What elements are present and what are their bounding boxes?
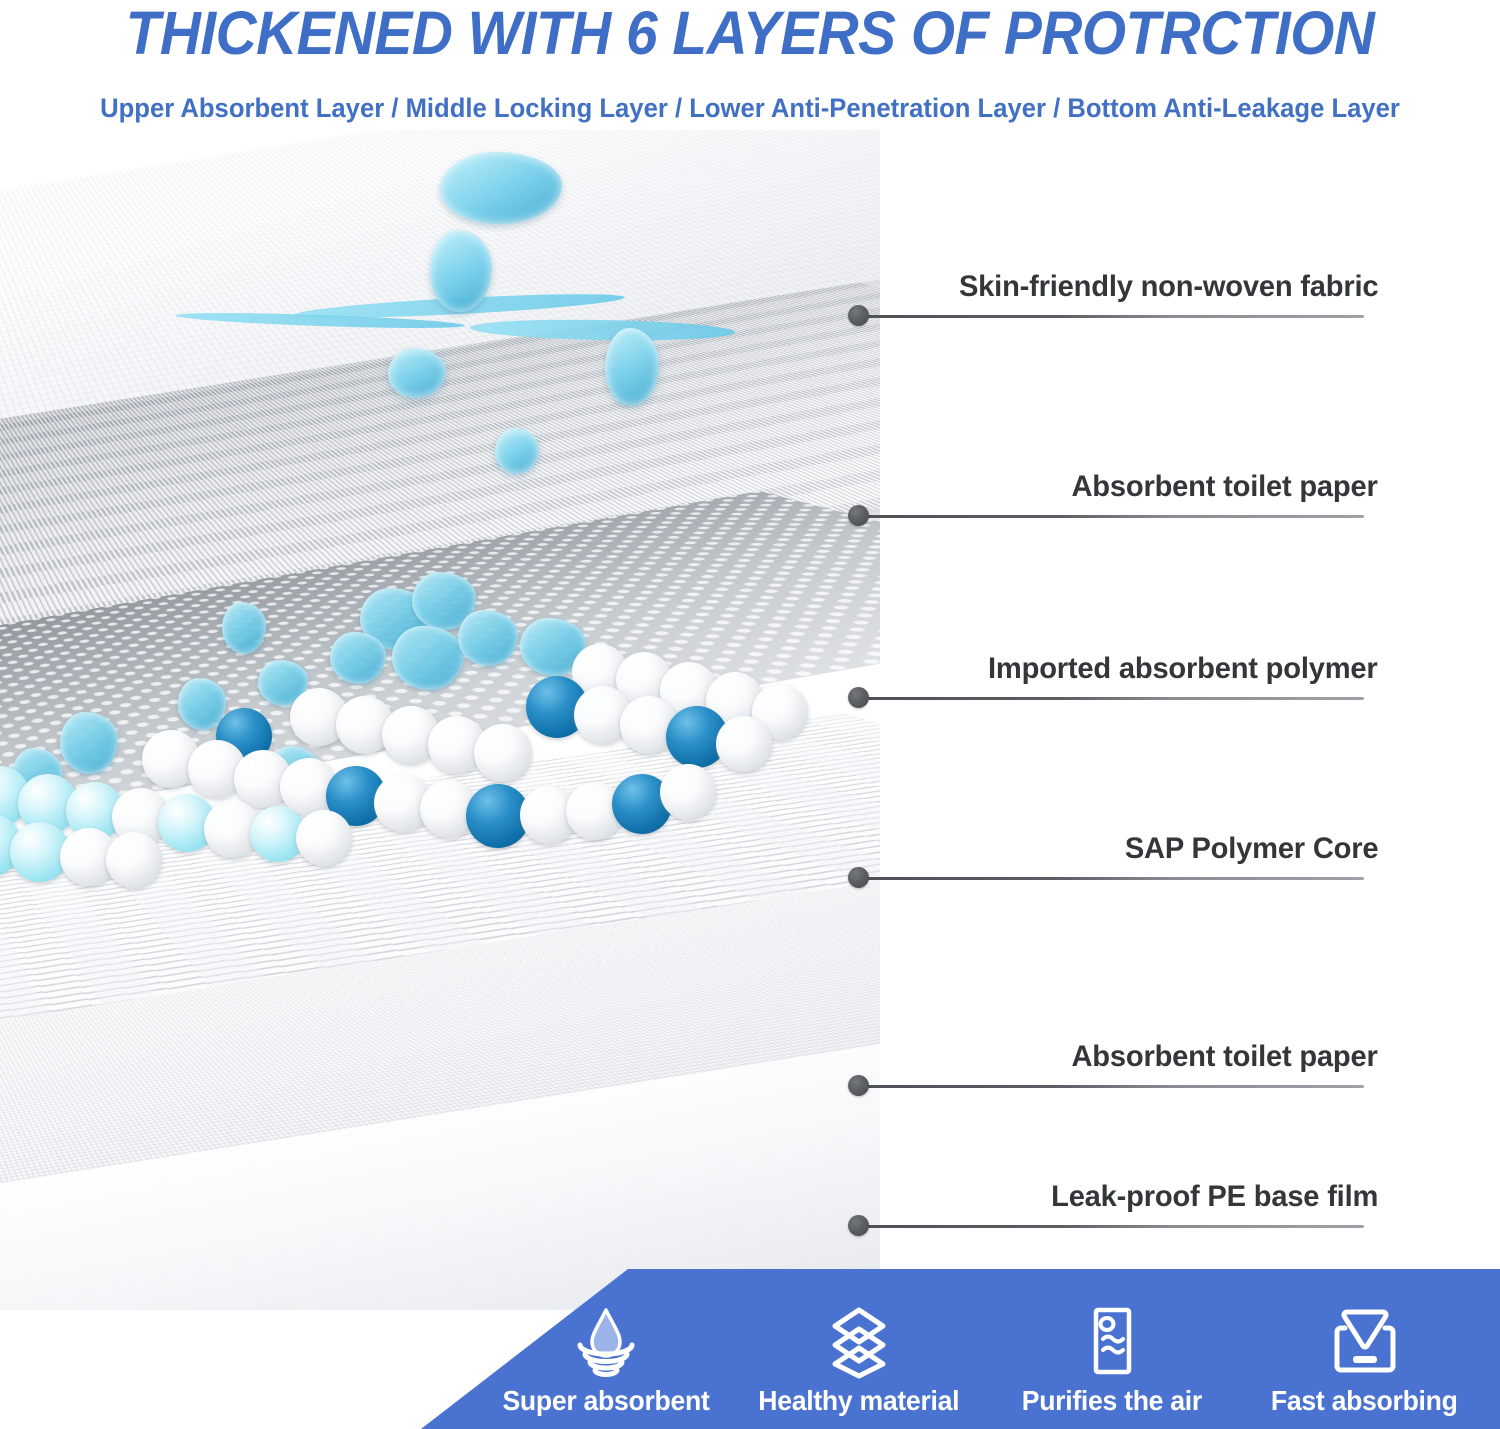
callout-leader-line	[864, 1225, 1364, 1228]
callout-leader-line	[864, 1085, 1364, 1088]
feature-label: Fast absorbing	[1271, 1385, 1458, 1417]
callout-list: Skin-friendly non-woven fabric Absorbent…	[0, 0, 1500, 1290]
callout-leader-line	[864, 697, 1364, 700]
callout-leader-line	[864, 315, 1364, 318]
callout-label: Skin-friendly non-woven fabric	[959, 270, 1378, 304]
callout-label: Imported absorbent polymer	[989, 652, 1378, 686]
callout-leader-line	[864, 877, 1364, 880]
stacked-diamond-layers-icon	[821, 1302, 897, 1382]
feature-label: Super absorbent	[502, 1385, 709, 1417]
callout-dot-icon	[848, 867, 869, 888]
feature-super-absorbent: Super absorbent	[488, 1302, 723, 1417]
funnel-into-container-icon	[1327, 1302, 1403, 1382]
callout-label: SAP Polymer Core	[1124, 832, 1378, 866]
feature-purifies-the-air: Purifies the air	[994, 1302, 1229, 1417]
feature-label: Purifies the air	[1021, 1385, 1201, 1417]
feature-healthy-material: Healthy material	[741, 1302, 976, 1417]
feature-bar: Super absorbent Healthy material	[0, 1269, 1500, 1429]
callout-dot-icon	[848, 687, 869, 708]
water-drop-ripple-icon	[568, 1302, 644, 1382]
feature-list: Super absorbent Healthy material	[470, 1269, 1500, 1429]
feature-fast-absorbing: Fast absorbing	[1247, 1302, 1482, 1417]
callout-label: Absorbent toilet paper	[1072, 470, 1378, 504]
air-purifier-icon	[1074, 1302, 1150, 1382]
callout-dot-icon	[848, 505, 869, 526]
callout-leader-line	[864, 515, 1364, 518]
callout-label: Leak-proof PE base film	[1051, 1180, 1378, 1214]
callout-dot-icon	[848, 1075, 869, 1096]
callout-dot-icon	[848, 1215, 869, 1236]
feature-label: Healthy material	[758, 1385, 959, 1417]
callout-label: Absorbent toilet paper	[1072, 1040, 1378, 1074]
callout-dot-icon	[848, 305, 869, 326]
